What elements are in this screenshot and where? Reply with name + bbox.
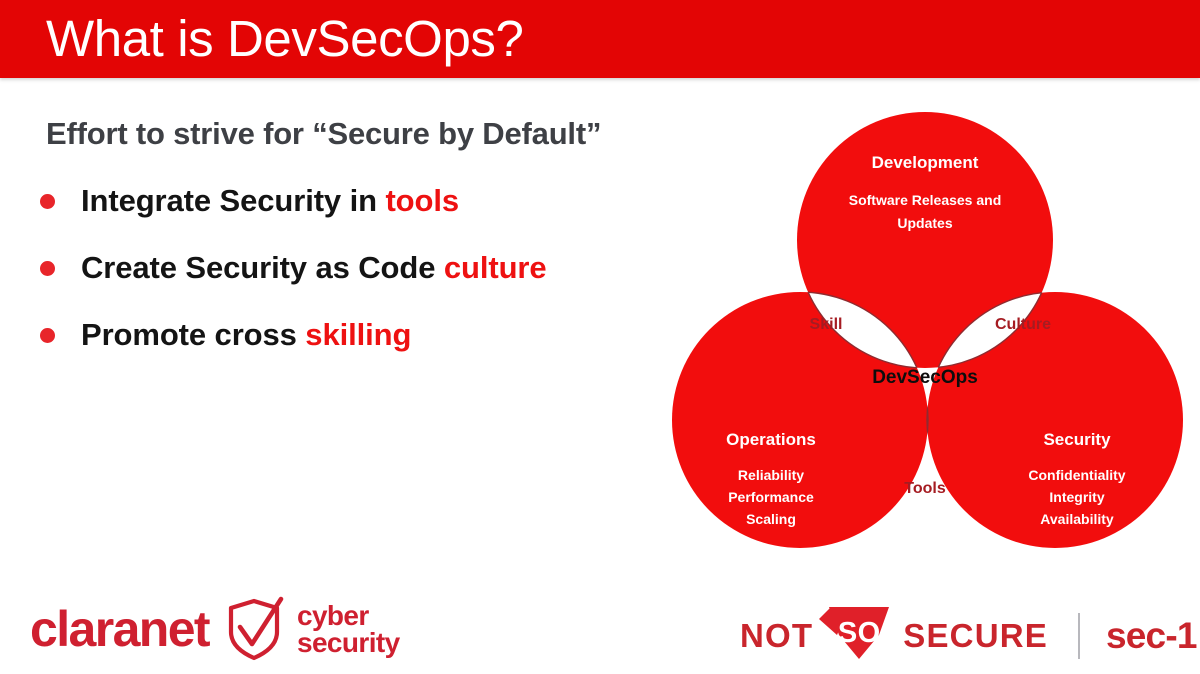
venn-label-culture: Culture [995, 316, 1051, 333]
venn-diagram: Development Software Releases and Update… [640, 95, 1200, 600]
title-banner: What is DevSecOps? [0, 0, 1200, 78]
nss-word-secure: SECURE [903, 616, 1048, 656]
bullet-highlight-1: tools [385, 183, 459, 218]
venn-label-operations-title: Operations [726, 430, 816, 449]
bullet-item-1: Integrate Security in tools [40, 183, 459, 219]
subtitle: Effort to strive for “Secure by Default” [46, 116, 601, 152]
venn-label-operations-line3: Scaling [746, 511, 796, 527]
venn-label-skill: Skill [810, 316, 843, 333]
venn-label-operations-line1: Reliability [738, 467, 804, 483]
claranet-logo: claranet cyber security [30, 596, 400, 662]
notsosecure-logo: NOT SO SECURE sec-1 [740, 605, 1197, 666]
bullet-text-2: Create Security as Code culture [81, 250, 547, 286]
so-badge: SO [819, 605, 897, 666]
bullet-text-1: Integrate Security in tools [81, 183, 459, 219]
bullet-highlight-2: culture [444, 250, 547, 285]
claranet-tagline-line1: cyber [297, 602, 400, 629]
logo-divider [1078, 613, 1080, 659]
claranet-tagline: cyber security [297, 602, 400, 656]
bullet-item-2: Create Security as Code culture [40, 250, 547, 286]
bullet-text-3: Promote cross skilling [81, 317, 411, 353]
bullet-item-3: Promote cross skilling [40, 317, 411, 353]
slide: What is DevSecOps? Effort to strive for … [0, 0, 1200, 674]
shield-check-icon [223, 596, 285, 662]
bullet-dot-icon [40, 328, 55, 343]
so-badge-label: SO [819, 605, 897, 661]
bullet-dot-icon [40, 261, 55, 276]
bullet-highlight-3: skilling [305, 317, 411, 352]
venn-label-tools: Tools [904, 480, 946, 497]
claranet-wordmark: claranet [30, 601, 209, 657]
venn-label-operations-line2: Performance [728, 489, 814, 505]
venn-label-security-title: Security [1043, 430, 1111, 449]
venn-label-development-line2: Updates [897, 215, 952, 231]
claranet-tagline-line2: security [297, 629, 400, 656]
venn-label-security-line2: Integrity [1049, 489, 1104, 505]
venn-label-security-line1: Confidentiality [1028, 467, 1125, 483]
page-title: What is DevSecOps? [46, 5, 523, 73]
venn-label-development-title: Development [872, 153, 979, 172]
venn-label-development-line1: Software Releases and [849, 192, 1002, 208]
nss-word-not: NOT [740, 616, 813, 656]
venn-label-devsecops: DevSecOps [872, 367, 978, 388]
sec1-wordmark: sec-1 [1106, 615, 1197, 657]
venn-label-security-line3: Availability [1040, 511, 1114, 527]
bullet-dot-icon [40, 194, 55, 209]
